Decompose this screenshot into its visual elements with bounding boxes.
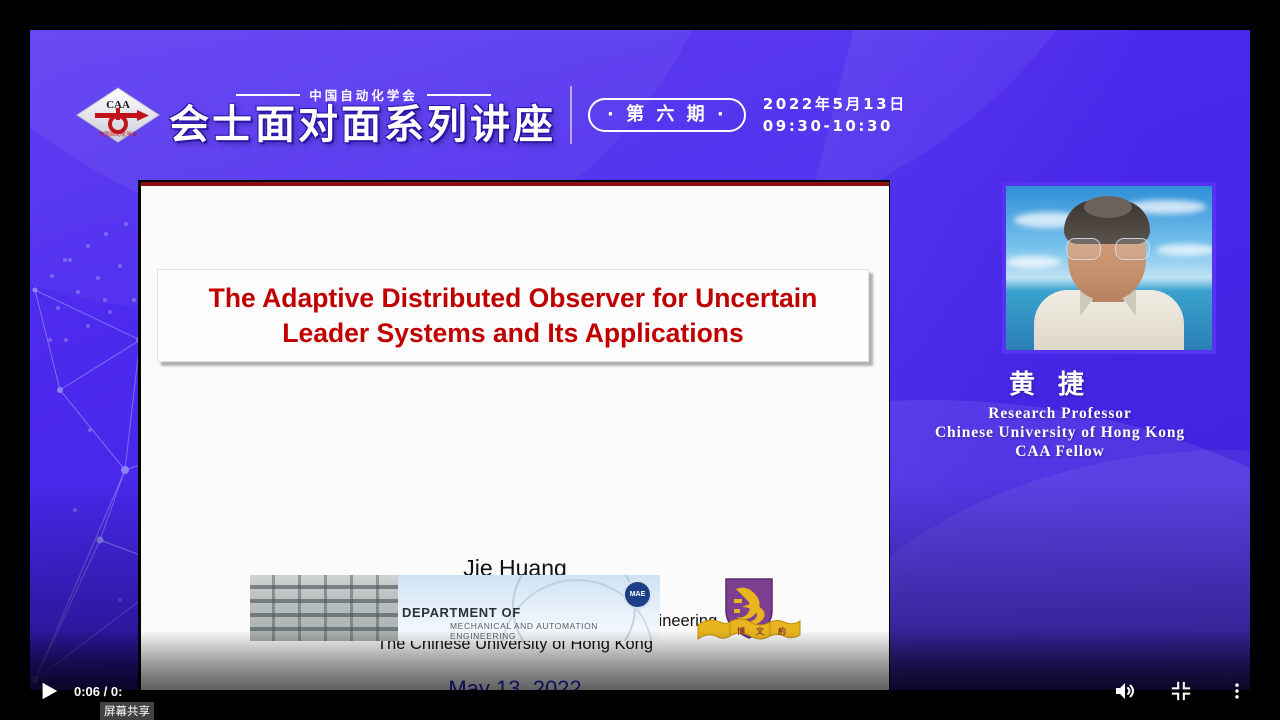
svg-text:博: 博 bbox=[737, 626, 745, 636]
header-datetime: 2022年5月13日 09:30-10:30 bbox=[763, 93, 907, 138]
mae-title-line2: MECHANICAL AND AUTOMATION ENGINEERING bbox=[450, 621, 660, 641]
webinar-header: CAA 中国自动化学会 中国自动化学会 会士面对面系列讲座 · 第 六 期 · … bbox=[75, 75, 907, 155]
mae-seal-icon: MAE bbox=[623, 580, 652, 609]
speaker-role-line3: CAA Fellow bbox=[910, 443, 1210, 462]
slide-title-card: The Adaptive Distributed Observer for Un… bbox=[157, 269, 869, 362]
more-options-button[interactable] bbox=[1222, 676, 1252, 706]
slide-title: The Adaptive Distributed Observer for Un… bbox=[158, 281, 868, 351]
exit-fullscreen-icon bbox=[1170, 680, 1192, 702]
header-divider bbox=[570, 86, 572, 144]
cuhk-crest-icon: 博文約 bbox=[690, 575, 808, 645]
slide-logo-row: DEPARTMENT OF MECHANICAL AND AUTOMATION … bbox=[250, 575, 810, 647]
mae-building-photo bbox=[250, 575, 398, 641]
header-rule-left bbox=[236, 94, 300, 96]
speaker-hair-top bbox=[1084, 196, 1132, 218]
volume-icon bbox=[1113, 679, 1137, 703]
mae-title-line1: DEPARTMENT OF bbox=[402, 605, 521, 620]
svg-text:約: 約 bbox=[778, 626, 786, 636]
header-episode-badge: · 第 六 期 · bbox=[588, 98, 746, 132]
mae-department-banner: DEPARTMENT OF MECHANICAL AND AUTOMATION … bbox=[250, 575, 660, 641]
video-player[interactable]: CAA 中国自动化学会 中国自动化学会 会士面对面系列讲座 · 第 六 期 · … bbox=[0, 0, 1280, 720]
header-time: 09:30-10:30 bbox=[763, 115, 907, 138]
speaker-camera[interactable] bbox=[1006, 186, 1212, 350]
svg-text:中国自动化学会: 中国自动化学会 bbox=[99, 130, 138, 138]
header-title-block: 中国自动化学会 会士面对面系列讲座 bbox=[169, 79, 556, 151]
header-date: 2022年5月13日 bbox=[763, 93, 907, 116]
play-button[interactable] bbox=[30, 672, 68, 710]
player-controls-right bbox=[1110, 670, 1252, 712]
speaker-role-line1: Research Professor bbox=[910, 405, 1210, 424]
slide-accent-bar bbox=[141, 182, 889, 186]
video-stage: CAA 中国自动化学会 中国自动化学会 会士面对面系列讲座 · 第 六 期 · … bbox=[30, 30, 1250, 690]
slide-date: May 13, 2022 bbox=[141, 676, 889, 690]
caa-logo-icon: CAA 中国自动化学会 bbox=[75, 86, 161, 144]
speaker-role: Research Professor Chinese University of… bbox=[910, 405, 1210, 462]
speaker-glasses-icon bbox=[1066, 238, 1150, 258]
volume-button[interactable] bbox=[1110, 676, 1140, 706]
more-options-icon bbox=[1227, 681, 1247, 701]
header-series-title: 会士面对面系列讲座 bbox=[169, 105, 556, 145]
speaker-name: 黄 捷 bbox=[910, 364, 1190, 401]
header-rule-right bbox=[427, 94, 491, 96]
time-display: 0:06 / 0: bbox=[74, 684, 122, 699]
screen-share-badge: 屏幕共享 bbox=[100, 702, 154, 720]
exit-fullscreen-button[interactable] bbox=[1166, 676, 1196, 706]
play-icon bbox=[38, 680, 60, 702]
shared-slide[interactable]: Jie Huang Department of Mechanical and A… bbox=[141, 182, 889, 690]
svg-text:文: 文 bbox=[756, 626, 765, 636]
speaker-role-line2: Chinese University of Hong Kong bbox=[910, 424, 1210, 443]
